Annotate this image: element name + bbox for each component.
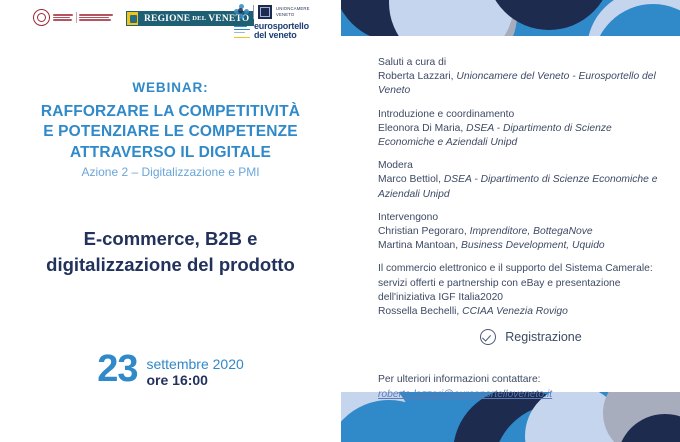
block-heading: Saluti a cura di [378, 56, 666, 70]
person-name: Roberta Lazzari, [378, 71, 456, 82]
check-circle-icon [480, 329, 496, 345]
program-block-saluti: Saluti a cura di Roberta Lazzari, Unionc… [378, 56, 666, 99]
program-block-introduzione: Introduzione e coordinamento Eleonora Di… [378, 108, 666, 151]
person-name: Martina Mantoan, [378, 240, 461, 251]
speaker-row: Martina Mantoan, Business Development, U… [378, 239, 666, 253]
unipd-seal-icon [33, 9, 50, 26]
event-date-details: settembre 2020 ore 16:00 [146, 352, 243, 389]
webinar-poster: REGIONE DEL VENETO [0, 0, 680, 442]
block-heading: Intervengono [378, 211, 666, 225]
person-role: Business Development, Uquido [461, 240, 605, 251]
session-title: E-commerce, B2B e digitalizzazione del p… [0, 226, 341, 279]
veneto-crest-icon [126, 11, 139, 26]
block-heading: Modera [378, 159, 666, 173]
block-description: Il commercio elettronico e il supporto d… [378, 262, 666, 305]
person-name: Christian Pegoraro, [378, 226, 470, 237]
webinar-label: WEBINAR: [0, 80, 341, 95]
unioncamere-line-1: UNIONCAMERE [276, 6, 310, 11]
eurosportello-mark-icon [234, 25, 250, 38]
block-body: Roberta Lazzari, Unioncamere del Veneto … [378, 70, 666, 98]
unipd-wordmark [53, 12, 113, 23]
eurosportello-del-veneto-logo: eurosportello del veneto [234, 22, 310, 40]
event-date-block: 23 settembre 2020 ore 16:00 [0, 352, 341, 389]
program-block-modera: Modera Marco Bettiol, DSEA - Dipartiment… [378, 159, 666, 202]
registration-label: Registrazione [505, 330, 581, 344]
session-title-line-1: E-commerce, B2B e [0, 226, 341, 252]
logo-row: REGIONE DEL VENETO [0, 2, 341, 38]
eurosportello-wordmark: eurosportello del veneto [254, 22, 309, 40]
program-block-intervengono: Intervengono Christian Pegoraro, Imprend… [378, 211, 666, 254]
speaker-row: Christian Pegoraro, Imprenditore, Botteg… [378, 225, 666, 239]
camera-commercio-icon [258, 5, 272, 19]
contact-label: Per ulteriori informazioni contattare: [378, 373, 666, 388]
unioncamere-wordmark: UNIONCAMERE VENETO [276, 6, 310, 18]
deco-circle-lightblue-1 [389, 0, 514, 36]
program-title-line-3: ATTRAVERSO IL DIGITALE [0, 143, 341, 163]
unioncamere-veneto-logo: UNIONCAMERE VENETO [234, 4, 310, 19]
unioncamere-line-2: VENETO [276, 12, 310, 17]
block-body: Rossella Bechelli, CCIAA Venezia Rovigo [378, 305, 666, 319]
eurosportello-line-2: del veneto [254, 30, 297, 40]
person-role: Imprenditore, BottegaNove [470, 226, 593, 237]
logo-divider [253, 5, 254, 19]
universita-di-padova-logo [33, 9, 113, 26]
unipd-dept-lines [79, 14, 113, 20]
regione-word-1: REGIONE [144, 14, 190, 24]
block-body: Eleonora Di Maria, DSEA - Dipartimento d… [378, 122, 666, 150]
person-name: Marco Bettiol, [378, 174, 444, 185]
program-block-sistema-camerale: Il commercio elettronico e il supporto d… [378, 262, 666, 319]
session-title-line-2: digitalizzazione del prodotto [0, 252, 341, 278]
unipd-divider [76, 12, 77, 23]
unipd-name-lines [53, 14, 73, 20]
person-name: Rossella Bechelli, [378, 306, 462, 317]
block-body: Marco Bettiol, DSEA - Dipartimento di Sc… [378, 173, 666, 201]
program-title-line-2: E POTENZIARE LE COMPETENZE [0, 122, 341, 142]
unioncamere-eurosportello-logo-group: UNIONCAMERE VENETO eurosportello del ven… [234, 4, 310, 40]
program-title: RAFFORZARE LA COMPETITIVITÀ E POTENZIARE… [0, 102, 341, 163]
unioncamere-flower-icon [234, 4, 249, 19]
event-time: ore 16:00 [146, 372, 243, 389]
event-day: 23 [97, 352, 137, 387]
left-column: REGIONE DEL VENETO [0, 0, 341, 442]
program-title-line-1: RAFFORZARE LA COMPETITIVITÀ [0, 102, 341, 122]
registration-button[interactable]: Registrazione [378, 329, 666, 345]
right-column: Saluti a cura di Roberta Lazzari, Unionc… [378, 56, 666, 403]
contact-email-link[interactable]: roberta.lazzari@eurosportelloveneto.it [378, 388, 666, 403]
block-heading: Introduzione e coordinamento [378, 108, 666, 122]
person-name: Eleonora Di Maria, [378, 123, 466, 134]
person-role: CCIAA Venezia Rovigo [462, 306, 568, 317]
action-subtitle: Azione 2 – Digitalizzazione e PMI [0, 165, 341, 179]
decorative-band-top [341, 0, 680, 36]
contact-info: Per ulteriori informazioni contattare: r… [378, 373, 666, 403]
event-month-year: settembre 2020 [146, 356, 243, 372]
regione-word-del: DEL [192, 15, 206, 22]
